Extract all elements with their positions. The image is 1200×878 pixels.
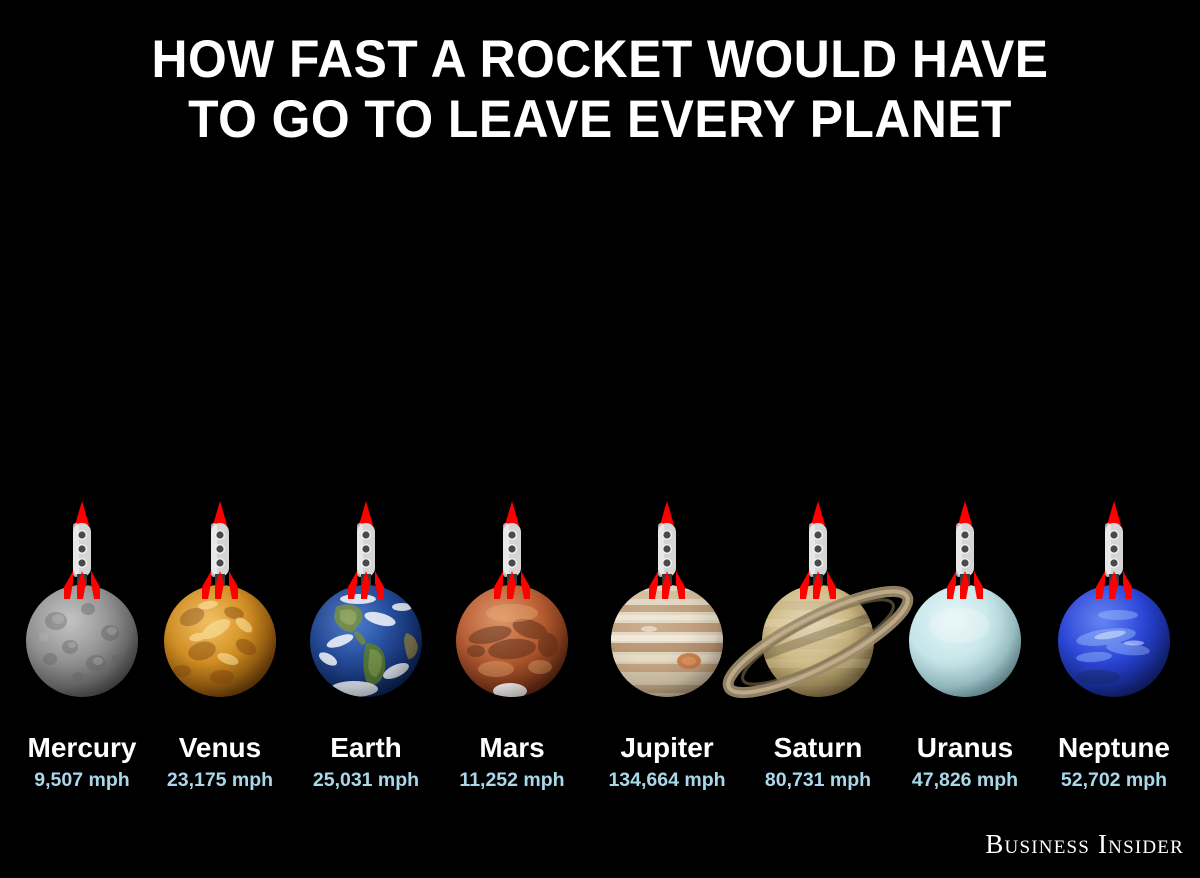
rocket-icon: [490, 499, 534, 604]
planet-cell-mercury[interactable]: Mercury 9,507 mph: [7, 495, 157, 725]
planet-cell-mars[interactable]: Mars 11,252 mph: [437, 495, 587, 725]
page-title: HOW FAST A ROCKET WOULD HAVE TO GO TO LE…: [0, 30, 1200, 150]
rocket-icon: [796, 499, 840, 604]
planet-speed-value: 9,507 mph: [7, 768, 157, 792]
planet-stack-mercury: [7, 495, 157, 725]
planet-cell-uranus[interactable]: Uranus 47,826 mph: [890, 495, 1040, 725]
planet-stack-neptune: [1039, 495, 1189, 725]
planet-name-label: Earth: [291, 732, 441, 764]
planet-row: Mercury 9,507 mph: [0, 495, 1200, 735]
planet-speed-value: 47,826 mph: [890, 768, 1040, 792]
business-insider-logo: Business Insider: [985, 829, 1184, 860]
planet-name-label: Neptune: [1039, 732, 1189, 764]
planet-stack-mars: [437, 495, 587, 725]
planet-cell-saturn[interactable]: Saturn 80,731 mph: [743, 495, 893, 725]
planet-cell-venus[interactable]: Venus 23,175 mph: [145, 495, 295, 725]
title-line-2: TO GO TO LEAVE EVERY PLANET: [36, 90, 1164, 150]
planet-stack-venus: [145, 495, 295, 725]
planet-speed-value: 11,252 mph: [437, 768, 587, 792]
planet-name-label: Mercury: [7, 732, 157, 764]
planet-cell-jupiter[interactable]: Jupiter 134,664 mph: [592, 495, 742, 725]
title-line-1: HOW FAST A ROCKET WOULD HAVE: [36, 30, 1164, 90]
rocket-icon: [645, 499, 689, 604]
rocket-icon: [60, 499, 104, 604]
planet-stack-earth: [291, 495, 441, 725]
planet-speed-value: 25,031 mph: [291, 768, 441, 792]
planet-stack-saturn: [743, 495, 893, 725]
planet-name-label: Uranus: [890, 732, 1040, 764]
planet-name-label: Venus: [145, 732, 295, 764]
planet-name-label: Mars: [437, 732, 587, 764]
rocket-icon: [344, 499, 388, 604]
planet-speed-value: 134,664 mph: [592, 768, 742, 792]
planet-speed-value: 23,175 mph: [145, 768, 295, 792]
rocket-icon: [198, 499, 242, 604]
planet-speed-value: 52,702 mph: [1039, 768, 1189, 792]
planet-stack-uranus: [890, 495, 1040, 725]
planet-stack-jupiter: [592, 495, 742, 725]
planet-cell-neptune[interactable]: Neptune 52,702 mph: [1039, 495, 1189, 725]
planet-speed-value: 80,731 mph: [743, 768, 893, 792]
planet-cell-earth[interactable]: Earth 25,031 mph: [291, 495, 441, 725]
rocket-icon: [943, 499, 987, 604]
planet-name-label: Saturn: [743, 732, 893, 764]
planet-name-label: Jupiter: [592, 732, 742, 764]
rocket-icon: [1092, 499, 1136, 604]
